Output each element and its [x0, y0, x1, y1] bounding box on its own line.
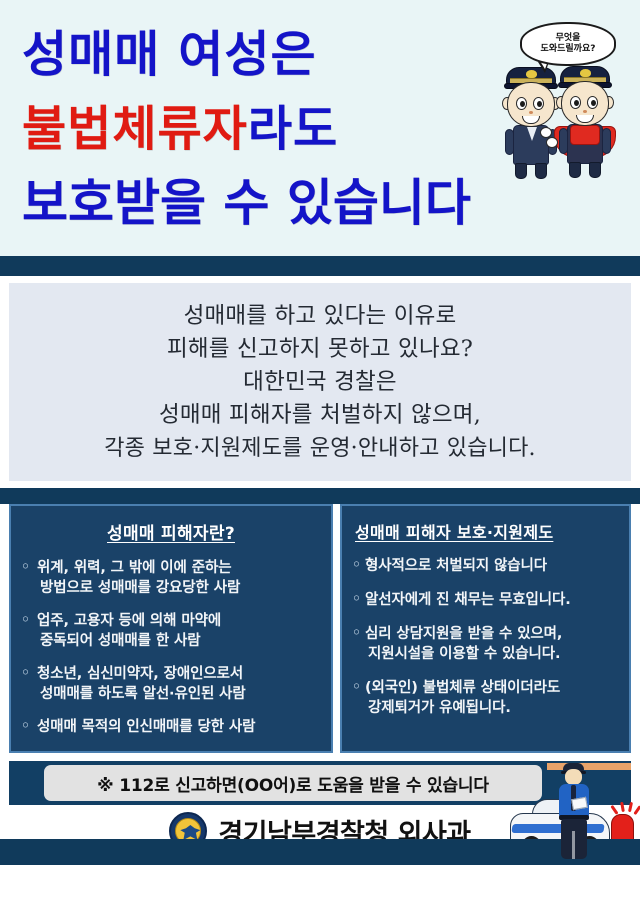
list-item: 위계, 위력, 그 밖에 이에 준하는 방법으로 성매매를 강요당한 사람 [21, 558, 321, 598]
mascot-eye-right [587, 96, 598, 109]
police-hat-emblem-icon [526, 70, 537, 78]
info-boxes-row: 성매매 피해자란? 위계, 위력, 그 밖에 이에 준하는 방법으로 성매매를 … [0, 504, 640, 753]
mascot-leg-left [569, 162, 581, 178]
mascot-officer-right [556, 66, 614, 178]
notice-strip: ※ 112로 신고하면(OO어)로 도움을 받을 수 있습니다 [0, 761, 640, 805]
list-item: 심리 상담지원을 받을 수 있으며, 지원시설을 이용할 수 있습니다. [352, 624, 619, 664]
bullet-line: 형사적으로 처벌되지 않습니다 [365, 556, 619, 576]
mascot-leg-right [535, 163, 547, 179]
speech-bubble-line-2: 도와드릴까요? [541, 44, 596, 55]
statement-section: 성매매를 하고 있다는 이유로 피해를 신고하지 못하고 있나요? 대한민국 경… [0, 276, 640, 488]
police-hat-emblem-icon [580, 69, 591, 77]
statement-line: 대한민국 경찰은 [19, 366, 621, 399]
mascot-officer-left [502, 67, 560, 179]
bullet-line: 업주, 고용자 등에 의해 마약에 [37, 611, 321, 631]
bullet-line: 성매매 목적의 인신매매를 당한 사람 [37, 717, 321, 737]
list-item: 성매매 목적의 인신매매를 당한 사람 [21, 717, 321, 737]
bullet-line: 알선자에게 진 채무는 무효입니다. [365, 590, 619, 610]
accent-strip [547, 763, 631, 770]
statement-line: 성매매 피해자를 처벌하지 않으며, [19, 399, 621, 432]
mascot-leg-left [515, 163, 527, 179]
mascot-shirt [527, 127, 537, 141]
statement-line: 각종 보호·지원제도를 운영·안내하고 있습니다. [19, 432, 621, 465]
bullet-line: 지원시설을 이용할 수 있습니다. [365, 644, 619, 664]
bullet-line: 청소년, 심신미약자, 장애인으로서 [37, 664, 321, 684]
info-box-victim-definition: 성매매 피해자란? 위계, 위력, 그 밖에 이에 준하는 방법으로 성매매를 … [9, 504, 333, 753]
mascot-leg-right [589, 162, 601, 178]
speech-bubble-line-1: 무엇을 [556, 33, 581, 44]
mascot-eye-left [516, 97, 527, 110]
info-bullet-list: 위계, 위력, 그 밖에 이에 준하는 방법으로 성매매를 강요당한 사람 업주… [21, 558, 321, 737]
bottom-bar [0, 839, 640, 865]
bullet-line: 심리 상담지원을 받을 수 있으며, [365, 624, 619, 644]
bullet-line: 위계, 위력, 그 밖에 이에 준하는 [37, 558, 321, 578]
mascot-nose [529, 111, 533, 114]
mascot-nose [583, 110, 587, 113]
headline-section: 성매매 여성은 불법체류자라도 보호받을 수 있습니다 무엇을 도와드릴까요? [0, 0, 640, 256]
info-box-title: 성매매 피해자란? [21, 519, 321, 544]
info-box-support-system: 성매매 피해자 보호·지원제도 형사적으로 처벌되지 않습니다 알선자에게 진 … [340, 504, 631, 753]
bullet-line: 성매매를 하도록 알선·유인된 사람 [37, 684, 321, 704]
mascot-eye-right [533, 97, 544, 110]
divider-bar-middle [0, 488, 640, 504]
headline-line-2-emphasis: 불법체류자 [22, 101, 248, 157]
mascot-eye-left [570, 96, 581, 109]
bullet-line: 강제퇴거가 유예됩니다. [365, 698, 619, 718]
bullet-line: 중독되어 성매매를 한 사람 [37, 631, 321, 651]
notice-text: ※ 112로 신고하면(OO어)로 도움을 받을 수 있습니다 [97, 771, 489, 796]
info-box-title: 성매매 피해자 보호·지원제도 [352, 519, 619, 543]
info-bullet-list: 형사적으로 처벌되지 않습니다 알선자에게 진 채무는 무효입니다. 심리 상담… [352, 556, 619, 718]
mascot-vest [570, 125, 600, 145]
footer-section: ※ 112로 신고하면(OO어)로 도움을 받을 수 있습니다 경기남부경찰청 … [0, 753, 640, 865]
bullet-line: 방법으로 성매매를 강요당한 사람 [37, 578, 321, 598]
statement-box: 성매매를 하고 있다는 이유로 피해를 신고하지 못하고 있나요? 대한민국 경… [9, 283, 631, 481]
statement-line: 피해를 신고하지 못하고 있나요? [19, 333, 621, 366]
headline-line-1: 성매매 여성은 [22, 18, 492, 92]
headline-line-3: 보호받을 수 있습니다 [22, 166, 492, 240]
list-item: 청소년, 심신미약자, 장애인으로서 성매매를 하도록 알선·유인된 사람 [21, 664, 321, 704]
headline-line-2-suffix: 라도 [248, 101, 338, 157]
list-item: 업주, 고용자 등에 의해 마약에 중독되어 성매매를 한 사람 [21, 611, 321, 651]
poster-root: 성매매 여성은 불법체류자라도 보호받을 수 있습니다 무엇을 도와드릴까요? [0, 0, 640, 924]
mascot-arm-right [602, 128, 611, 154]
statement-line: 성매매를 하고 있다는 이유로 [19, 300, 621, 333]
headline-text-block: 성매매 여성은 불법체류자라도 보호받을 수 있습니다 [22, 18, 492, 240]
police-mascot-illustration: 무엇을 도와드릴까요? [498, 22, 634, 187]
mascot-glove-two [546, 137, 558, 148]
divider-bar-top [0, 256, 640, 276]
headline-line-2: 불법체류자라도 [22, 92, 492, 166]
list-item: (외국인) 불법체류 상태이더라도 강제퇴거가 유예됩니다. [352, 678, 619, 718]
list-item: 형사적으로 처벌되지 않습니다 [352, 556, 619, 576]
speech-bubble: 무엇을 도와드릴까요? [520, 22, 616, 66]
bullet-line: (외국인) 불법체류 상태이더라도 [365, 678, 619, 698]
notice-banner: ※ 112로 신고하면(OO어)로 도움을 받을 수 있습니다 [44, 765, 542, 801]
list-item: 알선자에게 진 채무는 무효입니다. [352, 590, 619, 610]
